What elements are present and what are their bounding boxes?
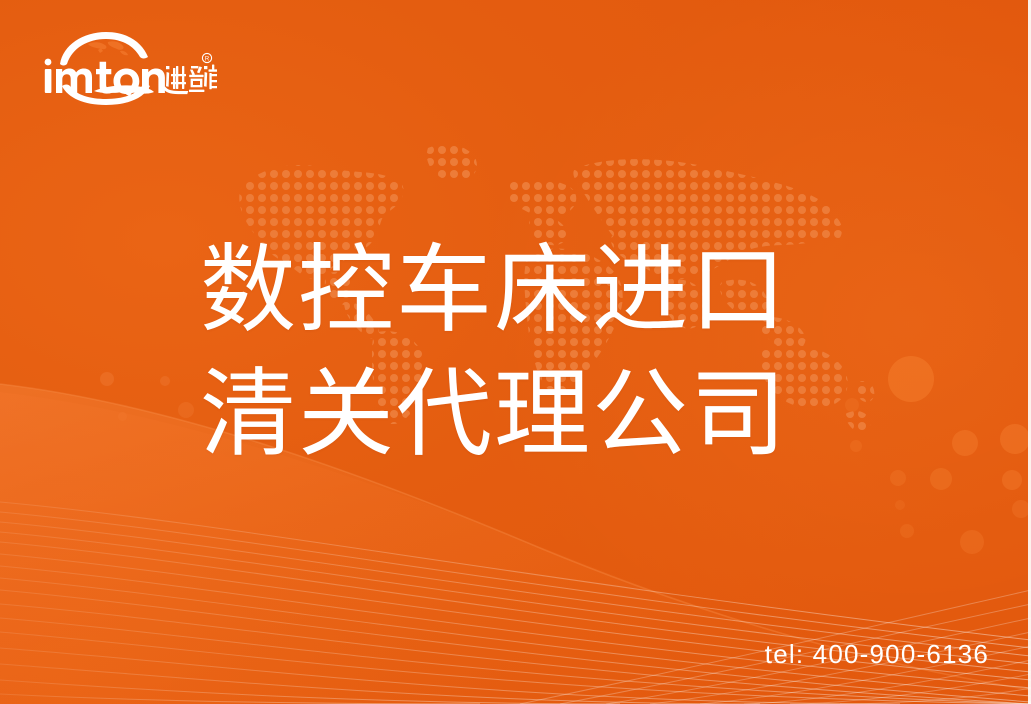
globe-icon (60, 32, 148, 66)
promotional-banner: R 数控车床进口 清关代理公司 tel: 400-900-6136 (0, 0, 1031, 704)
imton-logo[interactable]: R (32, 28, 217, 106)
svg-text:R: R (205, 57, 210, 63)
logo-chinese-text (163, 65, 217, 95)
headline-line-2: 清关代理公司 (200, 352, 900, 476)
registered-trademark-icon: R (202, 53, 211, 62)
contact-phone[interactable]: tel: 400-900-6136 (765, 639, 989, 670)
page-title: 数控车床进口 清关代理公司 (200, 228, 900, 476)
headline-line-1: 数控车床进口 (200, 228, 900, 352)
